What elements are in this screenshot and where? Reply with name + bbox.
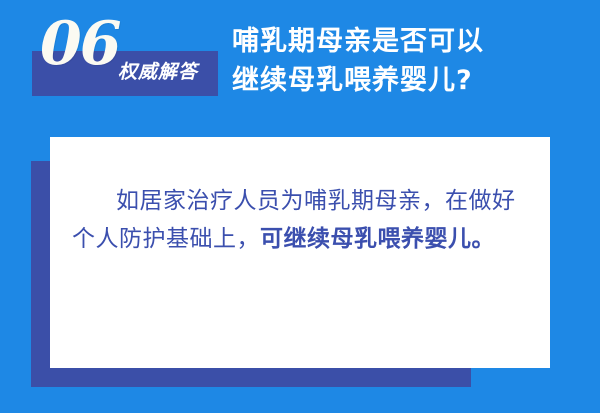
badge-number: 06 bbox=[40, 14, 120, 74]
header-section: 06 权威解答 哺乳期母亲是否可以 继续母乳喂养婴儿? bbox=[0, 0, 600, 125]
content-card: 如居家治疗人员为哺乳期母亲，在做好个人防护基础上，可继续母乳喂养婴儿。 bbox=[50, 137, 550, 368]
poster-root: 06 权威解答 哺乳期母亲是否可以 继续母乳喂养婴儿? 如居家治疗人员为哺乳期母… bbox=[0, 0, 600, 413]
page-title-line-1: 哺乳期母亲是否可以 bbox=[232, 22, 582, 61]
card-body-emphasis-text: 可继续母乳喂养婴儿。 bbox=[260, 226, 495, 252]
card-body-text: 如居家治疗人员为哺乳期母亲，在做好个人防护基础上，可继续母乳喂养婴儿。 bbox=[72, 182, 528, 258]
badge-label: 权威解答 bbox=[118, 60, 198, 84]
page-title-line-2: 继续母乳喂养婴儿? bbox=[232, 61, 582, 100]
page-title: 哺乳期母亲是否可以 继续母乳喂养婴儿? bbox=[232, 22, 582, 100]
